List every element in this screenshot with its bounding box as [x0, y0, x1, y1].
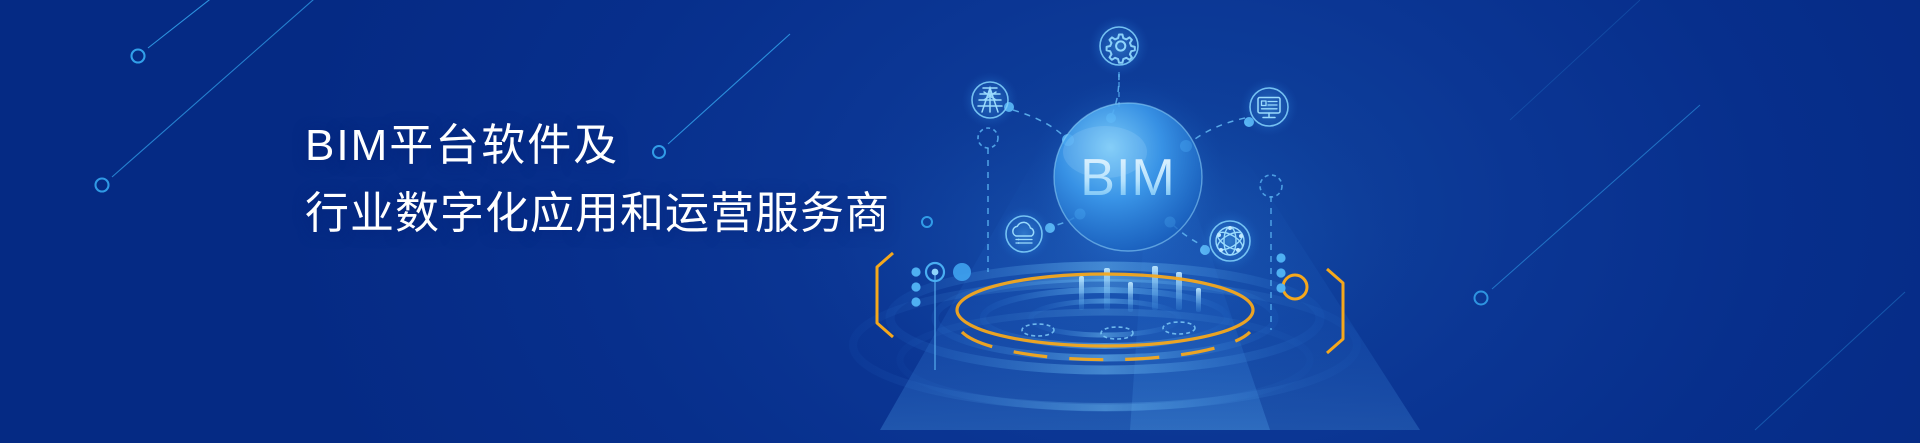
node-monitor: [1240, 78, 1298, 136]
bracket-right: [1327, 269, 1343, 353]
node-gear: [1089, 16, 1149, 76]
dashed-stem-left: [978, 128, 998, 272]
bim-illustration: BIM: [0, 0, 1920, 443]
headline-line-1: BIM平台软件及: [305, 112, 945, 180]
hero-banner: BIM: [0, 0, 1920, 443]
node-cloud-server: [996, 206, 1052, 262]
node-network: [1199, 210, 1261, 272]
headline-line-2: 行业数字化应用和运营服务商: [305, 180, 945, 248]
headline: BIM平台软件及 行业数字化应用和运营服务商: [305, 112, 945, 248]
dot-triad-left: [911, 267, 920, 306]
bim-sphere-label: BIM: [1080, 149, 1175, 207]
dot-triad-right: [1276, 253, 1285, 292]
node-power-tower: [962, 72, 1018, 128]
